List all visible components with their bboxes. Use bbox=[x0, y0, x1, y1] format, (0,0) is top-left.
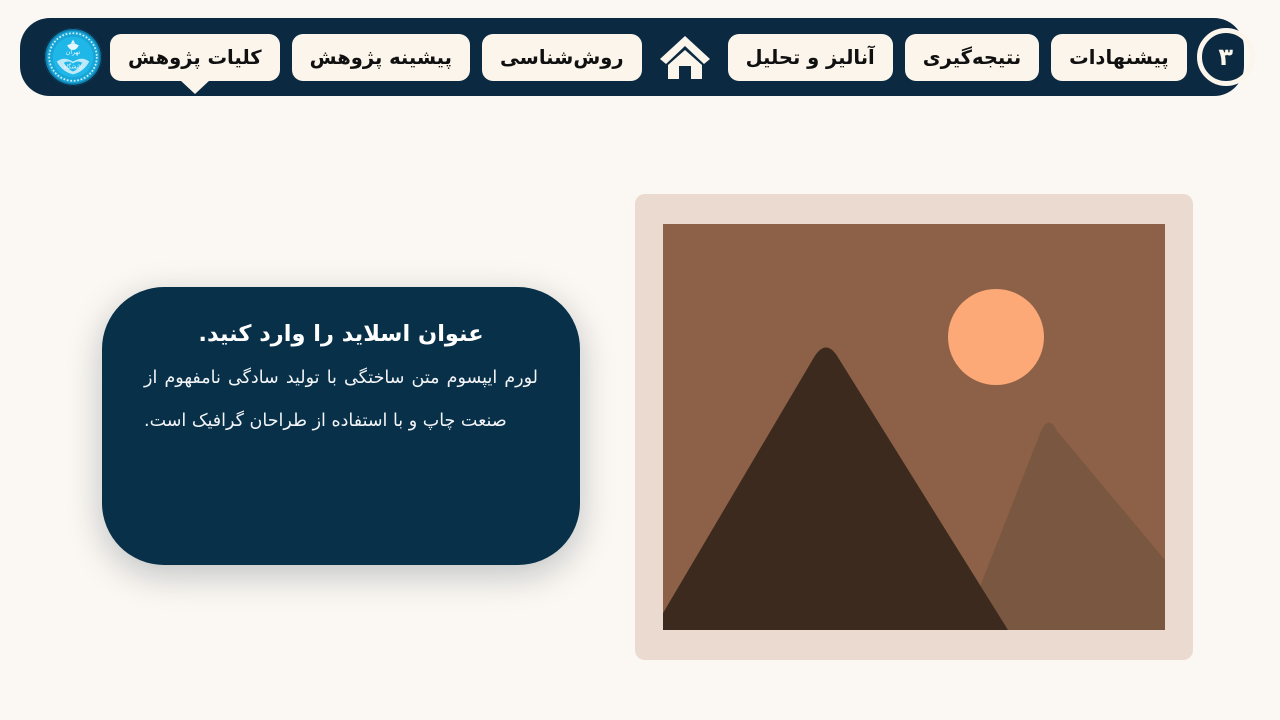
nav-tab-research-overview[interactable]: کلیات پژوهش bbox=[110, 34, 280, 81]
svg-text:تهران: تهران bbox=[66, 48, 81, 56]
nav-tab-conclusion[interactable]: نتیجه‌گیری bbox=[905, 34, 1039, 81]
image-placeholder-frame[interactable] bbox=[635, 194, 1193, 660]
slide-number-badge: ۳ bbox=[1197, 28, 1255, 86]
home-icon[interactable] bbox=[654, 29, 716, 85]
nav-tab-research-background[interactable]: پیشینه پژوهش bbox=[292, 34, 470, 81]
top-navigation-bar: تهران دانشگاه کلیات پژوهش پیشینه پژوهش ر… bbox=[20, 18, 1244, 96]
mountain-landscape-image bbox=[663, 224, 1165, 630]
slide-title: عنوان اسلاید را وارد کنید. bbox=[144, 319, 538, 349]
slide-body-text: لورم ایپسوم متن ساختگی با تولید سادگی نا… bbox=[144, 357, 538, 443]
nav-tab-suggestions[interactable]: پیشنهادات bbox=[1051, 34, 1187, 81]
nav-tab-methodology[interactable]: روش‌شناسی bbox=[482, 34, 642, 81]
university-of-tehran-logo[interactable]: تهران دانشگاه bbox=[44, 28, 102, 86]
slide-text-card: عنوان اسلاید را وارد کنید. لورم ایپسوم م… bbox=[102, 287, 580, 565]
nav-tab-analysis[interactable]: آنالیز و تحلیل bbox=[728, 34, 893, 81]
